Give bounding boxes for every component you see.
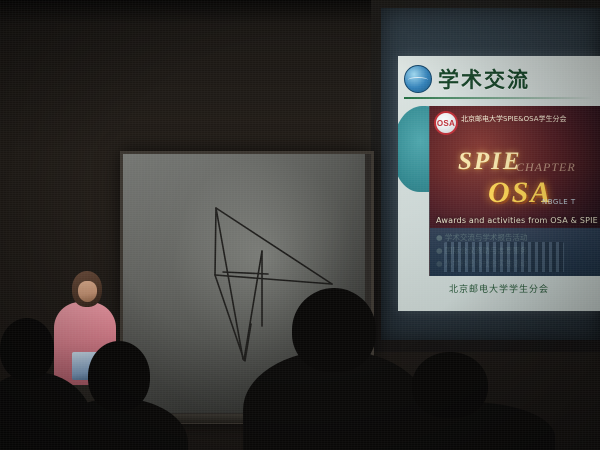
osa-badge-icon: OSA bbox=[434, 111, 458, 135]
slide-awards-line: Awards and activities from OSA & SPIE bbox=[436, 216, 598, 225]
slide-title: 学术交流 bbox=[438, 64, 530, 94]
audience-member-2-head bbox=[88, 341, 150, 411]
presenter-face bbox=[78, 281, 97, 302]
chapter-wordmark: CHAPTER bbox=[516, 160, 576, 175]
audience-member-3-head bbox=[292, 288, 376, 372]
slide-footer: 北京邮电大学学生分会 bbox=[398, 282, 600, 295]
audience-member-1-head bbox=[0, 318, 54, 380]
spie-wordmark: SPIE bbox=[458, 148, 522, 176]
slide-organization-line: 北京邮电大学SPIE&OSA学生分会 bbox=[461, 114, 596, 124]
globe-icon bbox=[404, 65, 432, 93]
slide-building-photo bbox=[430, 228, 600, 276]
lecture-room-photo: 学术交流 OSA 北京邮电大学SPIE&OSA学生分会 SPIE CHAPTER… bbox=[0, 0, 600, 450]
title-underline bbox=[404, 97, 594, 99]
slide-title-bar: 学术交流 bbox=[398, 62, 600, 96]
projected-slide: 学术交流 OSA 北京邮电大学SPIE&OSA学生分会 SPIE CHAPTER… bbox=[398, 56, 600, 311]
nbgle-wordmark: NBGLE T bbox=[542, 198, 576, 206]
audience-member-4-head bbox=[412, 352, 488, 418]
slide-photo-panel: OSA 北京邮电大学SPIE&OSA学生分会 SPIE CHAPTER OSA … bbox=[429, 106, 600, 276]
